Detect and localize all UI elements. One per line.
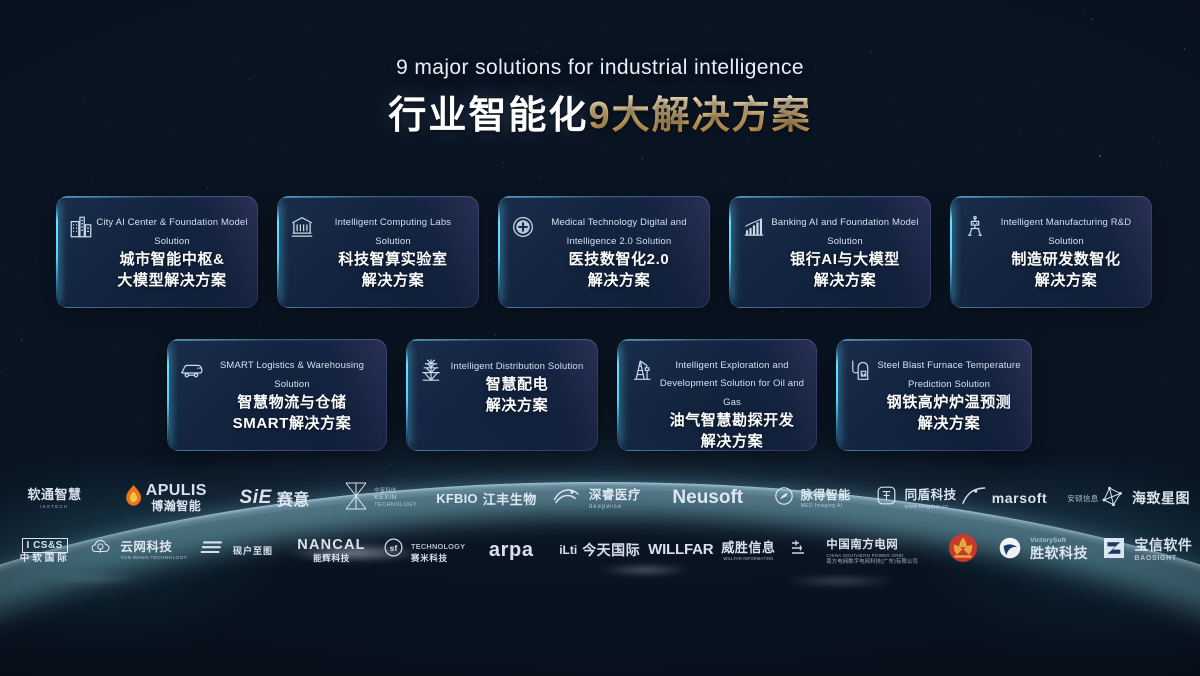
card-chinese-line: 医技数智化2.0 bbox=[538, 250, 700, 270]
logo-neusoft: Neusoft bbox=[654, 487, 761, 509]
logo-subtext: 赛⽶科技 bbox=[411, 554, 465, 563]
solution-card-computing-labs[interactable]: Intelligent Computing Labs Solution 科技智算… bbox=[277, 196, 479, 308]
card-bottom-sheen bbox=[731, 307, 931, 308]
logo-kexin: 中星科信 KEXIN TECHNOLOGY bbox=[327, 481, 434, 516]
logo-name: 砚⼾⾄图 bbox=[233, 544, 273, 557]
medical-cross-circle-icon bbox=[510, 214, 536, 240]
wave-icon bbox=[553, 486, 580, 510]
card-chinese: 钢铁高炉炉温预测 解决方案 bbox=[876, 393, 1022, 434]
solutions-row-2: SMART Logistics & Warehousing Solution 智… bbox=[167, 339, 1032, 451]
logo-kfbio: KFBIO 江丰生物 bbox=[434, 489, 540, 508]
logo-name: KEXIN bbox=[374, 494, 417, 501]
logo-subtext: 博瀚智能 bbox=[146, 500, 207, 513]
card-texts: City AI Center & Foundation Model Soluti… bbox=[94, 212, 250, 291]
logo-name: SiE bbox=[239, 487, 271, 509]
logo-name: 深睿医疗 bbox=[589, 488, 641, 502]
logo-saimi: sf TECHNOLOGY 赛⽶科技 bbox=[378, 536, 471, 563]
logo-subtext: VictorySoft bbox=[1030, 537, 1088, 544]
card-english-line: Intelligent Exploration and bbox=[675, 360, 788, 371]
headline-english: 9 major solutions for industrial intelli… bbox=[0, 56, 1200, 80]
card-english-line: Intelligent Manufacturing bbox=[1001, 217, 1108, 228]
card-bottom-sheen bbox=[500, 307, 710, 308]
page-title: 9 major solutions for industrial intelli… bbox=[0, 56, 1200, 138]
logo-yanhu: 砚⼾⾄图 bbox=[188, 537, 285, 564]
card-chinese-line: 解决方案 bbox=[876, 414, 1022, 434]
petal-flower-icon bbox=[948, 533, 978, 568]
sf-circle-icon: sf bbox=[384, 538, 403, 562]
headline-chinese: 行业智能化9大解决方案 bbox=[0, 96, 1200, 138]
logo-subtext: www.tongdun.cn bbox=[905, 504, 957, 510]
logo-med-imaging: 脉得智能 MED Imaging AI bbox=[761, 486, 864, 510]
card-english-line: Distribution Solution bbox=[496, 361, 584, 372]
logo-name: 宝信软件 bbox=[1134, 537, 1192, 553]
solution-card-city-ai[interactable]: City AI Center & Foundation Model Soluti… bbox=[56, 196, 258, 308]
logo-baosight: 宝信软件 BAOSIGHT bbox=[1096, 537, 1200, 564]
slide: 9 major solutions for industrial intelli… bbox=[0, 0, 1200, 676]
logo-name: 海致星图 bbox=[1132, 488, 1190, 508]
card-top-sheen bbox=[950, 196, 1152, 198]
logo-china-southern-grid: 中国南方电网 CHINA SOUTHERN POWER GRID 南方电网数字电… bbox=[775, 535, 933, 565]
partner-logo-row-1: 软通智慧 iSSTECH APULIS 博瀚智能 SiE 赛意 bbox=[0, 476, 1200, 520]
logo-name: TECHNOLOGY bbox=[411, 542, 465, 551]
logistics-truck-icon bbox=[179, 357, 205, 383]
logo-name: marsoft bbox=[992, 490, 1048, 506]
logo-name: Neusoft bbox=[672, 487, 743, 509]
logo-chinasoft: I CS&S 中软国际 bbox=[0, 535, 89, 565]
logo-apulis: APULIS 博瀚智能 bbox=[109, 482, 223, 513]
robot-arm-icon bbox=[962, 214, 988, 240]
card-chinese: 科技智算实验室 解决方案 bbox=[317, 250, 469, 291]
card-english: SMART Logistics & Warehousing Solution bbox=[220, 360, 364, 390]
card-chinese: 智慧物流与仓储 SMART解决方案 bbox=[207, 393, 377, 434]
card-chinese-line: 城市智能中枢& bbox=[96, 250, 248, 270]
logo-subtext: iLti bbox=[559, 543, 577, 557]
card-english: Steel Blast Furnace Temperature Predicti… bbox=[877, 360, 1020, 390]
logo-nancal: NANCAL 能辉科技 bbox=[285, 536, 378, 564]
svg-text:sf: sf bbox=[390, 543, 398, 553]
card-english-line: Steel Blast Furnace bbox=[877, 360, 963, 371]
card-english-line: Intelligent bbox=[451, 361, 493, 372]
card-chinese: 城市智能中枢& 大模型解决方案 bbox=[96, 250, 248, 291]
logo-subtext: BAOSIGHT bbox=[1134, 555, 1192, 563]
logo-deepwise: 深睿医疗 deepwise bbox=[540, 486, 655, 511]
logo-victorysoft: VictorySoft 胜软科技 bbox=[991, 537, 1095, 564]
bao-icon bbox=[1103, 537, 1125, 564]
headline-chinese-gold: 9大解决方案 bbox=[588, 95, 811, 137]
flame-icon bbox=[125, 484, 142, 512]
card-texts: Steel Blast Furnace Temperature Predicti… bbox=[874, 355, 1024, 434]
card-english: City AI Center & Foundation Model Soluti… bbox=[96, 217, 247, 247]
partner-logo-row-2: I CS&S 中软国际 云⽹科技 YUN WANG TECHNOLOGY bbox=[0, 528, 1200, 572]
partner-logo-wall: 软通智慧 iSSTECH APULIS 博瀚智能 SiE 赛意 bbox=[0, 476, 1200, 572]
logo-subtext: 南方电网数字电网科技(广东)有限公司 bbox=[826, 559, 918, 565]
card-chinese: 制造研发数智化 解决方案 bbox=[990, 250, 1142, 291]
logo-name: arpa bbox=[489, 539, 534, 562]
grid-icon bbox=[791, 539, 817, 562]
solution-card-oil-gas[interactable]: Intelligent Exploration and Development … bbox=[617, 339, 817, 451]
logo-subtext: 赛意 bbox=[277, 486, 310, 510]
arch-icon bbox=[962, 487, 986, 509]
card-english: Intelligent Distribution Solution bbox=[451, 361, 584, 372]
city-building-icon bbox=[68, 214, 94, 240]
logo-tongdun: 同盾科技 www.tongdun.cn bbox=[864, 486, 969, 510]
logo-subtext: deepwise bbox=[589, 504, 641, 511]
card-english: Banking AI and Foundation Model Solution bbox=[771, 217, 918, 247]
logo-marsoft: marsoft 安硕信息 bbox=[969, 487, 1091, 509]
power-pylon-icon bbox=[418, 357, 444, 383]
classical-bank-building-icon bbox=[289, 214, 315, 240]
card-chinese-line: 解决方案 bbox=[769, 271, 921, 291]
card-texts: SMART Logistics & Warehousing Solution 智… bbox=[205, 355, 379, 434]
card-chinese: 智慧配电 解决方案 bbox=[446, 375, 588, 416]
shield-icon bbox=[877, 486, 896, 510]
logo-name: 胜软科技 bbox=[1030, 545, 1088, 561]
card-english: Medical Technology Digital and Intellige… bbox=[551, 217, 686, 247]
card-english: Intelligent Manufacturing R&D Solution bbox=[1001, 217, 1132, 247]
solution-card-manufacturing[interactable]: Intelligent Manufacturing R&D Solution 制… bbox=[950, 196, 1152, 308]
cloud-icon bbox=[90, 538, 111, 561]
logo-ruantong: 软通智慧 iSSTECH bbox=[0, 486, 109, 509]
card-chinese-line: 钢铁高炉炉温预测 bbox=[876, 393, 1022, 413]
card-chinese: 银行AI与大模型 解决方案 bbox=[769, 250, 921, 291]
card-chinese-line: 大模型解决方案 bbox=[96, 271, 248, 291]
card-texts: Intelligent Manufacturing R&D Solution 制… bbox=[988, 212, 1144, 291]
card-chinese-line: 油气智慧勘探开发 bbox=[657, 411, 807, 431]
logo-name: I CS&S bbox=[22, 538, 68, 553]
card-chinese-line: 解决方案 bbox=[317, 271, 469, 291]
card-chinese-line: 制造研发数智化 bbox=[990, 250, 1142, 270]
solutions-row-1: City AI Center & Foundation Model Soluti… bbox=[56, 196, 1152, 308]
card-texts: Intelligent Computing Labs Solution 科技智算… bbox=[315, 212, 471, 291]
card-english-line: Intelligent Computing bbox=[335, 217, 427, 228]
card-top-sheen bbox=[729, 196, 931, 198]
solution-card-blast-furnace[interactable]: Steel Blast Furnace Temperature Predicti… bbox=[836, 339, 1032, 451]
logo-jintian-guoji: iLti 今天国际 bbox=[551, 540, 648, 560]
card-top-sheen bbox=[167, 339, 387, 341]
logo-name: KFBIO bbox=[436, 491, 477, 506]
logo-name: NANCAL bbox=[297, 537, 365, 553]
card-texts: Medical Technology Digital and Intellige… bbox=[536, 212, 702, 291]
card-chinese-line: 解决方案 bbox=[538, 271, 700, 291]
card-chinese: 医技数智化2.0 解决方案 bbox=[538, 250, 700, 291]
logo-subtext: 江丰生物 bbox=[483, 489, 537, 508]
bar-chart-growth-icon bbox=[741, 214, 767, 240]
network-icon bbox=[1101, 485, 1124, 512]
logo-subtext: MED Imaging AI bbox=[801, 504, 851, 510]
card-bottom-sheen bbox=[619, 450, 817, 451]
card-bottom-sheen bbox=[169, 450, 387, 451]
logo-name: 云⽹科技 bbox=[120, 540, 172, 554]
card-top-sheen bbox=[406, 339, 598, 341]
logo-yunwang: 云⽹科技 YUN WANG TECHNOLOGY bbox=[89, 538, 188, 561]
card-bottom-sheen bbox=[58, 307, 258, 308]
card-top-sheen bbox=[498, 196, 710, 198]
circle-arrow-icon bbox=[775, 487, 793, 510]
card-top-sheen bbox=[836, 339, 1032, 341]
card-texts: Banking AI and Foundation Model Solution… bbox=[767, 212, 923, 291]
card-texts: Intelligent Exploration and Development … bbox=[655, 355, 809, 451]
logo-sie: SiE 赛意 bbox=[223, 486, 327, 510]
solution-card-banking[interactable]: Banking AI and Foundation Model Solution… bbox=[729, 196, 931, 308]
logo-petrochina bbox=[934, 533, 992, 568]
card-chinese-line: 解决方案 bbox=[446, 396, 588, 416]
card-english-line: Development Solution for bbox=[660, 378, 770, 389]
logo-name: 今天国际 bbox=[582, 540, 640, 560]
stack-icon bbox=[200, 537, 226, 564]
card-english-line: SMART Logistics & bbox=[220, 360, 304, 371]
logo-subtext: YUN WANG TECHNOLOGY bbox=[120, 556, 187, 561]
solution-card-medical[interactable]: Medical Technology Digital and Intellige… bbox=[498, 196, 710, 308]
card-chinese-line: 智慧物流与仓储 bbox=[207, 393, 377, 413]
logo-name: 软通智慧 bbox=[27, 487, 81, 502]
logo-arpa: arpa bbox=[471, 539, 551, 562]
oil-derrick-icon bbox=[629, 357, 655, 383]
card-chinese-line: SMART解决方案 bbox=[207, 414, 377, 434]
logo-subtext: 中软国际 bbox=[20, 554, 70, 565]
logo-subtext: iSSTECH bbox=[27, 504, 81, 509]
logo-willfar: WILLFAR 威胜信息 WILLFAR INFORMATION bbox=[648, 539, 775, 562]
card-chinese-line: 科技智算实验室 bbox=[317, 250, 469, 270]
solution-card-distribution[interactable]: Intelligent Distribution Solution 智慧配电 解… bbox=[406, 339, 598, 451]
logo-name: 中国南方电网 bbox=[826, 539, 898, 551]
card-texts: Intelligent Distribution Solution 智慧配电 解… bbox=[444, 355, 590, 416]
hourglass-icon bbox=[343, 481, 369, 516]
logo-haizhi-xingtu: 海致星图 bbox=[1091, 485, 1200, 512]
card-chinese: 油气智慧勘探开发 解决方案 bbox=[657, 411, 807, 451]
card-bottom-sheen bbox=[952, 307, 1152, 308]
card-bottom-sheen bbox=[838, 450, 1032, 451]
card-english: Intelligent Exploration and Development … bbox=[660, 360, 804, 408]
card-chinese-line: 智慧配电 bbox=[446, 375, 588, 395]
card-top-sheen bbox=[617, 339, 817, 341]
logo-name: APULIS bbox=[146, 482, 207, 499]
swoosh-icon bbox=[999, 537, 1021, 564]
logo-name: WILLFAR bbox=[648, 541, 713, 558]
card-english-line: Medical Technology Digital bbox=[551, 217, 667, 228]
card-english: Intelligent Computing Labs Solution bbox=[335, 217, 451, 247]
card-chinese-line: 解决方案 bbox=[657, 432, 807, 451]
card-bottom-sheen bbox=[279, 307, 479, 308]
card-top-sheen bbox=[56, 196, 258, 198]
logo-subtext: 威胜信息 bbox=[721, 540, 775, 555]
card-top-sheen bbox=[277, 196, 479, 198]
logo-name: 脉得智能 bbox=[801, 488, 851, 502]
card-english-line: Banking AI and Foundation bbox=[771, 217, 889, 228]
card-english-line: City AI Center & Foundation bbox=[96, 217, 218, 228]
card-bottom-sheen bbox=[408, 450, 598, 451]
blast-furnace-icon bbox=[848, 357, 874, 383]
headline-chinese-white: 行业智能化 bbox=[388, 95, 588, 137]
logo-name: 同盾科技 bbox=[905, 488, 957, 502]
logo-subtext: 能辉科技 bbox=[297, 554, 365, 564]
solution-card-logistics[interactable]: SMART Logistics & Warehousing Solution 智… bbox=[167, 339, 387, 451]
card-chinese-line: 银行AI与大模型 bbox=[769, 250, 921, 270]
card-chinese-line: 解决方案 bbox=[990, 271, 1142, 291]
